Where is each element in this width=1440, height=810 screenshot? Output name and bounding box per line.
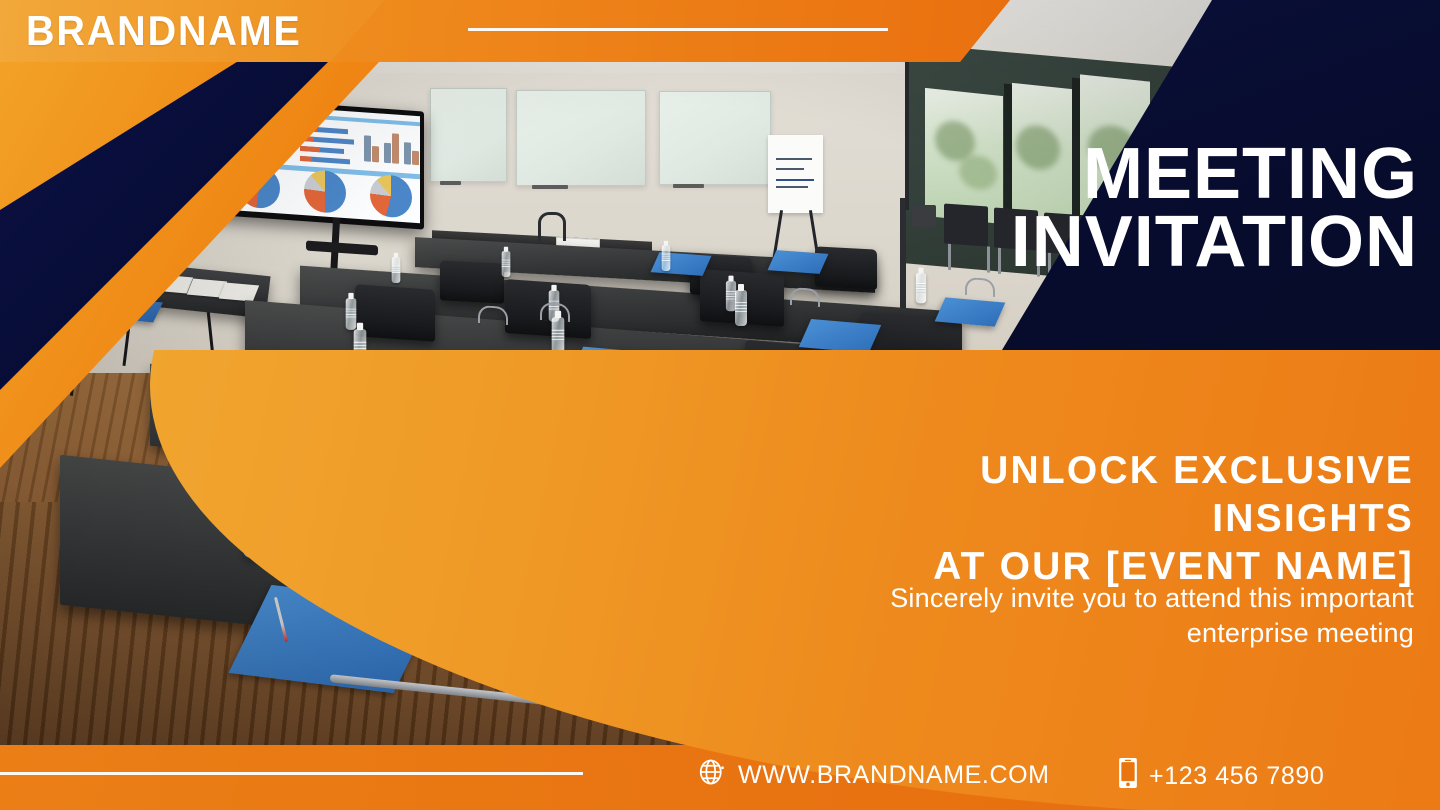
top-accent-line xyxy=(468,28,888,31)
mobile-phone-icon xyxy=(1118,757,1138,796)
top-orange-band-overlay xyxy=(330,0,1010,62)
website-label: WWW.BRANDNAME.COM xyxy=(738,761,1050,790)
headline: UNLOCK EXCLUSIVE INSIGHTS AT OUR [EVENT … xyxy=(834,447,1414,591)
website-contact[interactable]: WWW.BRANDNAME.COM xyxy=(697,757,1050,794)
subtitle-line-2: enterprise meeting xyxy=(794,616,1414,651)
globe-icon xyxy=(697,757,727,794)
subtitle-line-1: Sincerely invite you to attend this impo… xyxy=(890,583,1414,613)
page-title: MEETING INVITATION xyxy=(858,140,1418,276)
brand-logo-text: BRANDNAME xyxy=(26,8,302,54)
headline-line-1: UNLOCK EXCLUSIVE INSIGHTS xyxy=(980,449,1414,540)
title-line-2: INVITATION xyxy=(858,208,1418,276)
phone-label: +123 456 7890 xyxy=(1149,762,1324,791)
phone-contact[interactable]: +123 456 7890 xyxy=(1118,757,1324,796)
subtitle: Sincerely invite you to attend this impo… xyxy=(794,581,1414,651)
meeting-invitation-poster: BRANDNAME MEETING INVITATION UNLOCK EXCL… xyxy=(0,0,1440,810)
